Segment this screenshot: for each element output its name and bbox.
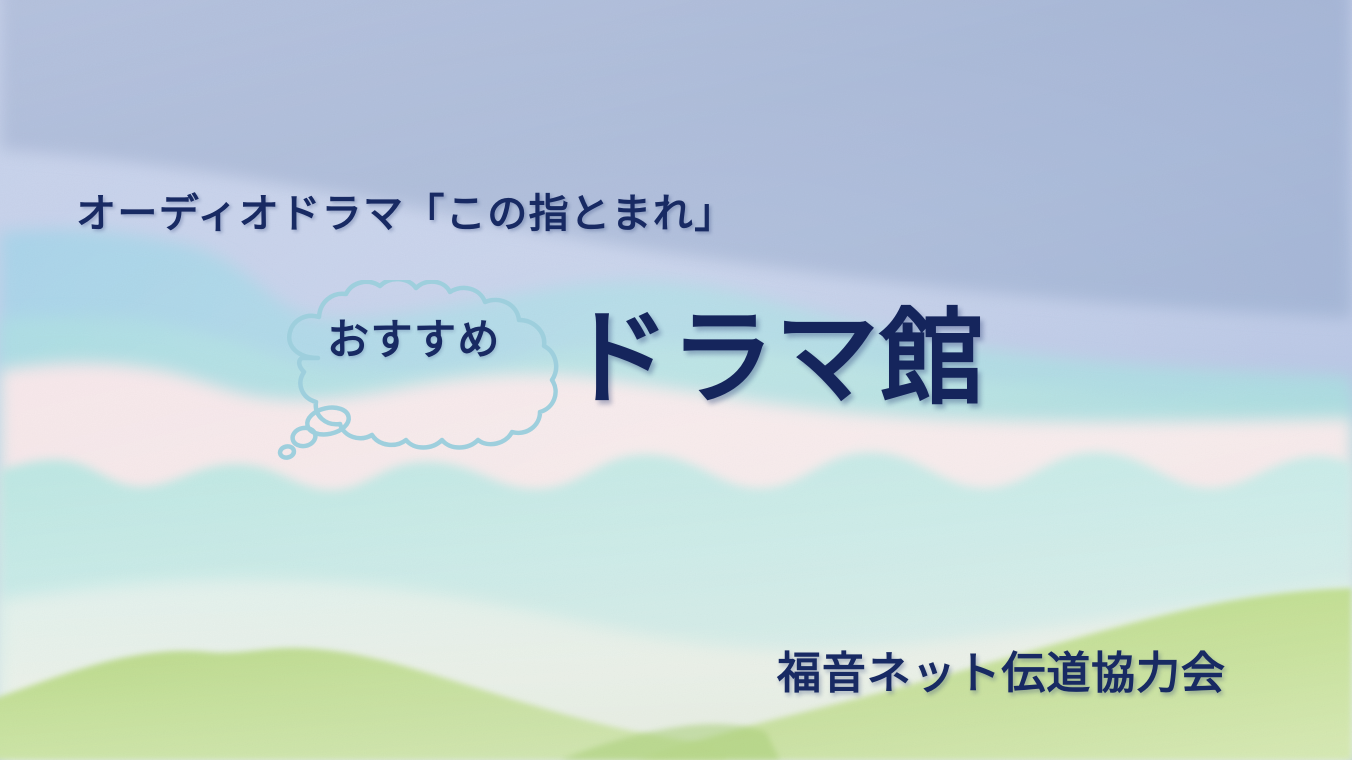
- organization-name: 福音ネット伝道協力会: [777, 652, 1226, 696]
- recommendation-label: おすすめ: [327, 319, 501, 361]
- audio-drama-subtitle: オーディオドラマ「この指とまれ」: [76, 194, 736, 234]
- slide-canvas: オーディオドラマ「この指とまれ」 おすすめ ドラマ館 福音ネット伝道協力会: [0, 0, 1352, 760]
- page-title: ドラマ館: [566, 306, 984, 410]
- thought-bubble-icon: [272, 280, 592, 480]
